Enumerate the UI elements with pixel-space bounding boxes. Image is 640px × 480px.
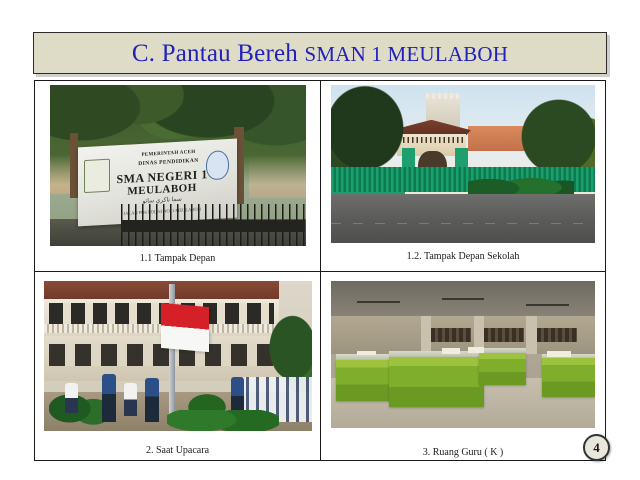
photo-cell-3: 2. Saat Upacara (35, 271, 320, 461)
ceremony-flag-raiser (145, 378, 158, 422)
photo-grid: PEMERINTAH ACEH DINAS PENDIDIKAN SMA NEG… (34, 80, 606, 461)
photo-4-teachers-room (331, 281, 595, 428)
photo-cell-4: 3. Ruang Guru ( K ) (320, 271, 605, 461)
slide: C. Pantau Bereh SMAN 1 MEULABOH PEMERINT… (0, 0, 640, 480)
photo-cell-1: PEMERINTAH ACEH DINAS PENDIDIKAN SMA NEG… (35, 81, 320, 271)
ceremony-officer (102, 374, 115, 422)
photo-caption-4: 3. Ruang Guru ( K ) (321, 447, 605, 458)
photo-caption-2: 1.2. Tampak Depan Sekolah (321, 251, 605, 262)
photo-3-flag-ceremony (44, 281, 312, 431)
photo-caption-3: 2. Saat Upacara (35, 445, 320, 456)
page-title-prefix: C. Pantau Bereh (132, 40, 305, 67)
page-title-suffix: SMAN 1 MEULABOH (304, 42, 508, 66)
photo-caption-1: 1.1 Tampak Depan (35, 253, 320, 264)
page-number-badge: 4 (583, 434, 610, 461)
photo-cell-2: 1.2. Tampak Depan Sekolah (320, 81, 605, 271)
photo-2-school-gate (331, 85, 595, 243)
indonesian-flag (161, 302, 209, 351)
page-title: C. Pantau Bereh SMAN 1 MEULABOH (132, 41, 508, 66)
slide-title-banner: C. Pantau Bereh SMAN 1 MEULABOH (33, 32, 607, 74)
photo-1-school-sign: PEMERINTAH ACEH DINAS PENDIDIKAN SMA NEG… (50, 85, 306, 246)
